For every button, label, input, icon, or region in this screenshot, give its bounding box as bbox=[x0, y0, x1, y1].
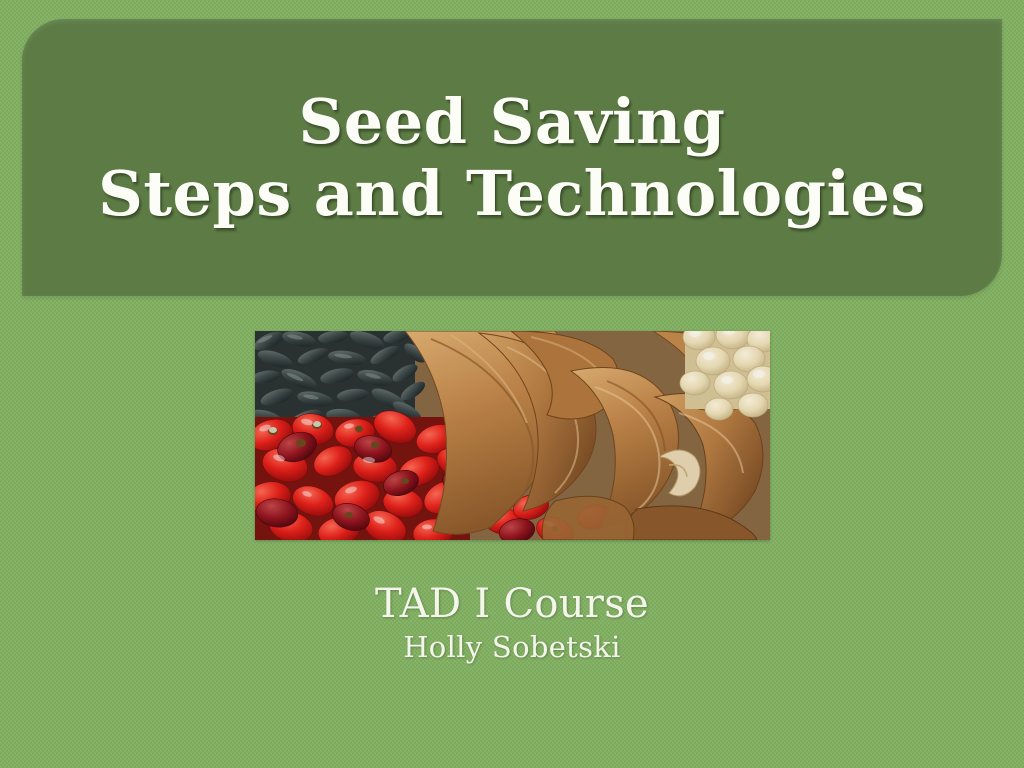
seed-assortment-photo bbox=[255, 331, 770, 540]
author-name: Holly Sobetski bbox=[0, 630, 1024, 665]
slide-title-line-2: Steps and Technologies bbox=[98, 158, 926, 230]
title-panel: Seed Saving Steps and Technologies bbox=[22, 19, 1002, 296]
slide-title-line-1: Seed Saving bbox=[298, 86, 725, 158]
course-name: TAD I Course bbox=[0, 583, 1024, 626]
presentation-slide: Seed Saving Steps and Technologies bbox=[0, 0, 1024, 768]
subtitle-block: TAD I Course Holly Sobetski bbox=[0, 583, 1024, 666]
seed-photo-illustration bbox=[255, 331, 770, 540]
